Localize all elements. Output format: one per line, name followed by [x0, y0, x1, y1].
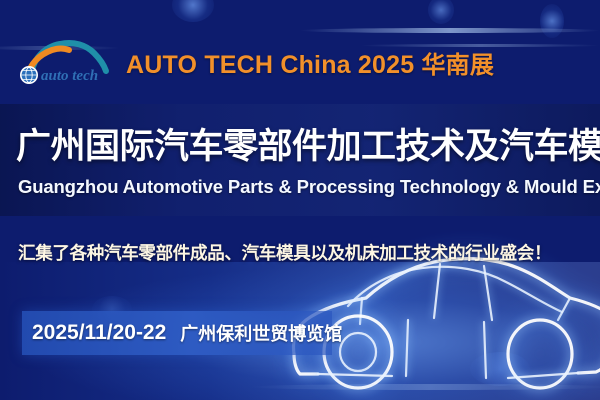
- event-venue: 广州保利世贸博览馆: [180, 320, 342, 346]
- banner-header: auto tech AUTO TECH China 2025 华南展: [14, 34, 494, 90]
- event-date: 2025/11/20-22: [32, 321, 166, 345]
- brand-title-chinese: 华南展: [421, 51, 494, 79]
- tagline: 汇集了各种汽车零部件成品、汽车模具以及机床加工技术的行业盛会！: [18, 240, 590, 265]
- brand-title-latin: AUTO TECH China 2025: [126, 51, 414, 79]
- page-subtitle: Guangzhou Automotive Parts & Processing …: [18, 176, 588, 198]
- page-title: 广州国际汽车零部件加工技术及汽车模具展览会: [16, 118, 588, 169]
- date-venue-bar: 2025/11/20-22 广州保利世贸博览馆: [22, 311, 332, 355]
- auto-tech-logo: auto tech: [14, 35, 118, 89]
- brand-title: AUTO TECH China 2025 华南展: [126, 45, 494, 80]
- svg-text:auto tech: auto tech: [41, 68, 98, 84]
- globe-icon: [20, 66, 38, 84]
- exhibition-banner: auto tech AUTO TECH China 2025 华南展 广州国际汽…: [0, 0, 600, 400]
